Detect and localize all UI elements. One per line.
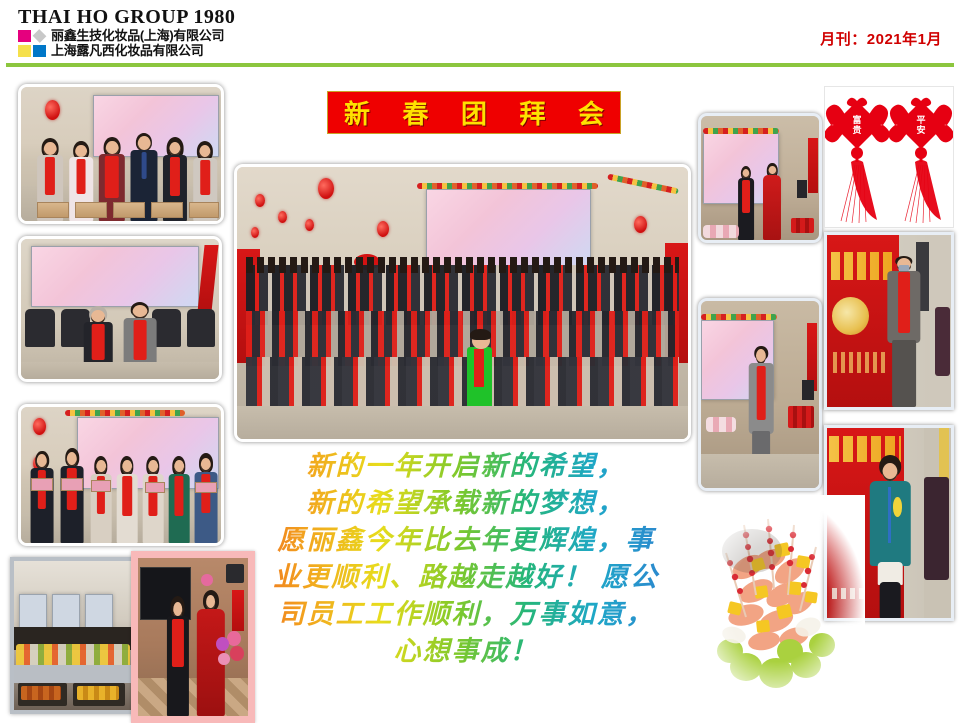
greeting-line: 新的希望承载新的梦想，	[250, 485, 682, 522]
greeting-message: 新的一年开启新的希望， 新的希望承载新的梦想， 愿丽鑫今年比去年更辉煌，事 业更…	[250, 448, 682, 670]
photo-content	[237, 167, 688, 439]
knot-right-label-2: 安	[916, 124, 925, 135]
greeting-line: 司员工工作顺利，万事如意，	[250, 596, 682, 633]
brand-name-cn-2: 上海露凡西化妆品有限公司	[51, 44, 203, 58]
page-header: THAI HO GROUP 1980 丽鑫生技化妆品(上海)有限公司 上海露凡西…	[0, 0, 960, 66]
swatch-magenta-icon	[18, 30, 31, 42]
brand-line-2: 上海露凡西化妆品有限公司	[18, 43, 235, 58]
event-title-banner: 新 春 团 拜 会	[327, 91, 621, 134]
knot-left-label-2: 贵	[852, 124, 861, 135]
food-platter-icon	[690, 495, 865, 710]
photo-content	[701, 116, 819, 240]
knot-left-label: 富	[852, 114, 861, 125]
photo-content	[21, 239, 219, 379]
chinese-knot-icon: 富 贵 平 安	[825, 87, 953, 227]
festive-food-platter-decoration	[690, 495, 865, 710]
photo-content	[827, 235, 951, 407]
brand-name-en: THAI HO GROUP 1980	[18, 6, 235, 28]
photo-content	[14, 561, 132, 710]
photo-speaker	[698, 298, 822, 491]
greeting-line: 心想事成！	[250, 633, 682, 670]
swatch-gray-diamond-icon	[33, 29, 47, 43]
photo-content	[138, 558, 248, 716]
photo-award-recipients	[18, 404, 224, 546]
greeting-line: 愿丽鑫今年比去年更辉煌，事	[250, 522, 682, 559]
chinese-knot-decoration: 富 贵 平 安	[824, 86, 954, 228]
photo-two-hostesses	[131, 551, 255, 723]
knot-right-label: 平	[916, 115, 925, 125]
greeting-line: 业更顺利、路越走越好！ 愿公	[250, 559, 682, 596]
swatch-yellow-icon	[18, 45, 31, 57]
photo-award-group-top-left	[18, 84, 224, 224]
photo-content	[21, 87, 221, 221]
company-logo: THAI HO GROUP 1980 丽鑫生技化妆品(上海)有限公司 上海露凡西…	[18, 6, 235, 58]
photo-buffet	[10, 557, 136, 714]
photo-content	[701, 301, 819, 488]
header-divider	[6, 63, 954, 67]
event-title-text: 新 春 团 拜 会	[331, 94, 617, 131]
brand-line-1: 丽鑫生技化妆品(上海)有限公司	[18, 28, 235, 43]
issue-date-label: 月刊：2021年1月	[820, 28, 942, 49]
photo-hosts-stage	[698, 113, 822, 243]
greeting-line: 新的一年开启新的希望，	[250, 448, 682, 485]
photo-man-banner	[824, 232, 954, 410]
photo-group-main	[234, 164, 691, 442]
photo-content	[21, 407, 221, 543]
brand-name-cn-1: 丽鑫生技化妆品(上海)有限公司	[51, 29, 224, 43]
photo-seated-pair	[18, 236, 222, 382]
swatch-blue-icon	[33, 45, 46, 57]
